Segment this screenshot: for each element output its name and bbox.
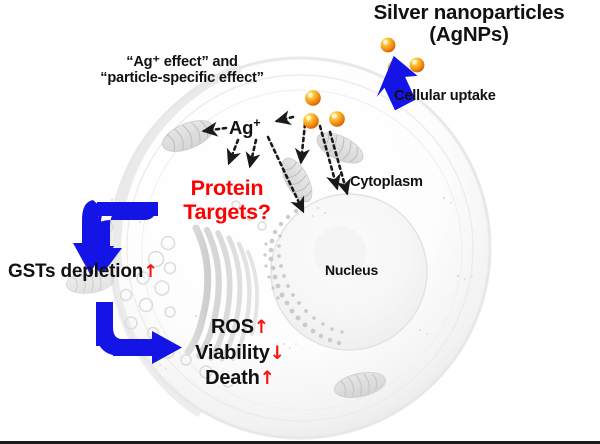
outcomes-block: ROS↑ Viability↓ Death↑ (176, 315, 304, 392)
protein-targets-line2: Targets? (171, 200, 283, 224)
gsts-depletion-text: GSTs depletion (8, 261, 143, 282)
outcome-ros-label: ROS (211, 316, 254, 338)
gsts-depletion-label: GSTs depletion↑ (8, 262, 158, 283)
outcome-ros-trend-up-icon: ↑ (254, 316, 269, 340)
silver-ion-text: Ag (229, 117, 253, 138)
protein-targets-line1: Protein (191, 176, 264, 200)
silver-ion-charge: + (253, 116, 260, 130)
figure-title-line2: (AgNPs) (340, 24, 598, 46)
outcome-death: Death↑ (176, 366, 304, 392)
outcome-viability-trend-down-icon: ↓ (270, 342, 285, 366)
figure-title: Silver nanoparticles (AgNPs) (340, 2, 598, 46)
effects-label-line1: “Ag⁺ effect” and (126, 54, 238, 70)
cytoplasm-label: Cytoplasm (350, 175, 423, 191)
effects-label: “Ag⁺ effect” and “particle-specific effe… (62, 55, 302, 87)
outcome-viability: Viability↓ (176, 341, 304, 367)
protein-targets-label: Protein Targets? (171, 176, 283, 224)
nucleus-label: Nucleus (325, 263, 378, 278)
outcome-death-label: Death (205, 367, 260, 389)
figure-title-line1: Silver nanoparticles (374, 1, 565, 24)
figure-canvas: Silver nanoparticles (AgNPs) “Ag⁺ effect… (0, 0, 600, 444)
gsts-trend-up-icon: ↑ (143, 263, 157, 282)
effects-label-line2: “particle-specific effect” (62, 71, 302, 87)
outcome-death-trend-up-icon: ↑ (260, 367, 275, 391)
outcome-ros: ROS↑ (176, 315, 304, 341)
cellular-uptake-label: Cellular uptake (394, 89, 496, 105)
outcome-viability-label: Viability (195, 342, 270, 364)
silver-ion-label: Ag+ (229, 118, 260, 138)
